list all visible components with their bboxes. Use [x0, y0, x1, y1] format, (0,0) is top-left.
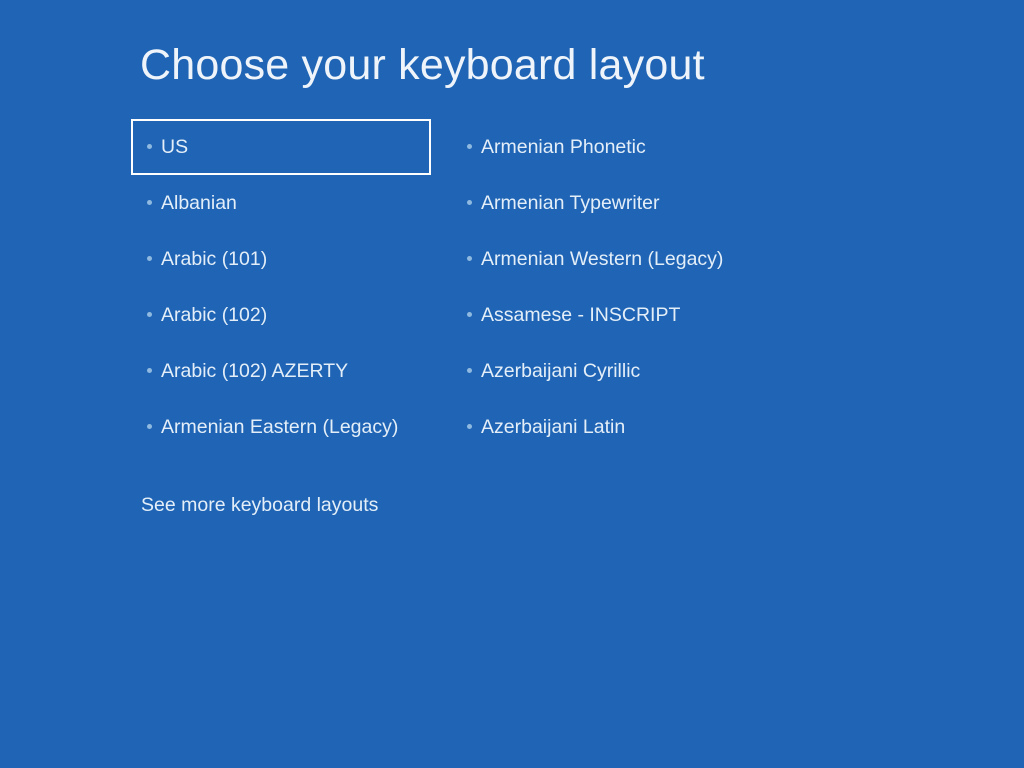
keyboard-layout-option-label: Arabic (101) [161, 247, 267, 271]
see-more-keyboard-layouts-label: See more keyboard layouts [141, 493, 378, 517]
keyboard-layout-option[interactable]: Albanian [131, 175, 431, 231]
bullet-icon [467, 144, 472, 149]
keyboard-layout-option-label: Albanian [161, 191, 237, 215]
keyboard-layout-option[interactable]: Azerbaijani Cyrillic [451, 343, 781, 399]
keyboard-layout-option-label: Armenian Typewriter [481, 191, 659, 215]
keyboard-layout-option-label: Assamese - INSCRIPT [481, 303, 680, 327]
keyboard-layout-option[interactable]: Assamese - INSCRIPT [451, 287, 781, 343]
bullet-icon [467, 312, 472, 317]
page-title: Choose your keyboard layout [140, 38, 705, 92]
keyboard-layout-list-right: Armenian PhoneticArmenian TypewriterArme… [451, 119, 781, 455]
bullet-icon [467, 200, 472, 205]
keyboard-layout-option-label: Arabic (102) [161, 303, 267, 327]
keyboard-layout-option[interactable]: Armenian Western (Legacy) [451, 231, 781, 287]
bullet-icon [467, 368, 472, 373]
bullet-icon [147, 144, 152, 149]
keyboard-layout-list-left: USAlbanianArabic (101)Arabic (102)Arabic… [131, 119, 431, 455]
bullet-icon [147, 200, 152, 205]
bullet-icon [147, 312, 152, 317]
bullet-icon [147, 256, 152, 261]
keyboard-layout-screen: Choose your keyboard layout USAlbanianAr… [0, 0, 1024, 768]
bullet-icon [467, 256, 472, 261]
keyboard-layout-option[interactable]: Arabic (102) [131, 287, 431, 343]
keyboard-layout-option-label: US [161, 135, 188, 159]
keyboard-layout-option[interactable]: Arabic (101) [131, 231, 431, 287]
keyboard-layout-option[interactable]: Azerbaijani Latin [451, 399, 781, 455]
keyboard-layout-option[interactable]: Armenian Eastern (Legacy) [131, 399, 431, 455]
keyboard-layout-option-label: Azerbaijani Latin [481, 415, 625, 439]
keyboard-layout-option-label: Armenian Eastern (Legacy) [161, 415, 398, 439]
bullet-icon [467, 424, 472, 429]
keyboard-layout-option-label: Arabic (102) AZERTY [161, 359, 348, 383]
keyboard-layout-option[interactable]: Arabic (102) AZERTY [131, 343, 431, 399]
keyboard-layout-option-label: Armenian Western (Legacy) [481, 247, 723, 271]
keyboard-layout-option[interactable]: Armenian Phonetic [451, 119, 781, 175]
keyboard-layout-option-label: Azerbaijani Cyrillic [481, 359, 640, 383]
keyboard-layout-option[interactable]: US [131, 119, 431, 175]
keyboard-layout-option[interactable]: Armenian Typewriter [451, 175, 781, 231]
keyboard-layout-option-label: Armenian Phonetic [481, 135, 646, 159]
bullet-icon [147, 424, 152, 429]
see-more-keyboard-layouts-link[interactable]: See more keyboard layouts [141, 479, 378, 531]
bullet-icon [147, 368, 152, 373]
